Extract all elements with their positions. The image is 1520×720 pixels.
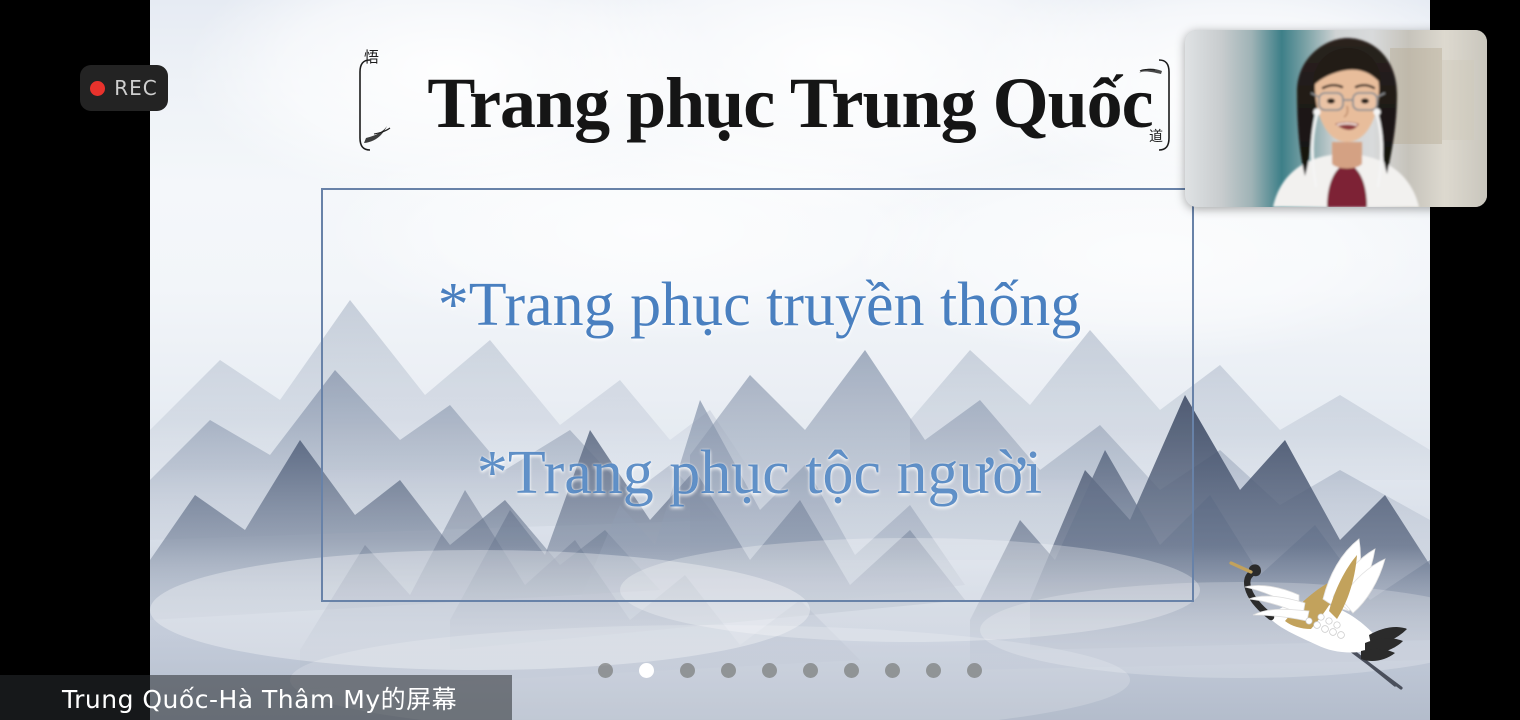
pagination-dot-7[interactable] (844, 663, 859, 678)
recording-badge: REC (80, 65, 168, 111)
pagination-dot-8[interactable] (885, 663, 900, 678)
pagination-dot-6[interactable] (803, 663, 818, 678)
recording-label: REC (114, 76, 158, 100)
pagination-dot-3[interactable] (680, 663, 695, 678)
slide-bullet-ethnic-clothing: *Trang phục tộc người (323, 442, 1196, 504)
pagination-dot-1[interactable] (598, 663, 613, 678)
pagination-dot-10[interactable] (967, 663, 982, 678)
meeting-screen-share-view: 悟 道 Trang phục Trung Quốc *Trang phục tr… (0, 0, 1520, 720)
screen-share-owner-label: Trung Quốc-Hà Thâm My的屏幕 (0, 675, 512, 720)
pagination-dot-5[interactable] (762, 663, 777, 678)
pagination-dot-4[interactable] (721, 663, 736, 678)
pagination-dot-2[interactable] (639, 663, 654, 678)
slide-bullet-traditional-clothing: *Trang phục truyền thống (323, 274, 1196, 336)
screen-share-owner-name: Trung Quốc-Hà Thâm My的屏幕 (0, 680, 457, 716)
participant-video-feed (1185, 30, 1487, 207)
slide-content-box: *Trang phục truyền thống *Trang phục tộc… (321, 188, 1194, 602)
recording-dot-icon (90, 81, 105, 96)
pagination-dot-9[interactable] (926, 663, 941, 678)
participant-video-tile[interactable] (1185, 30, 1487, 207)
flying-crane-icon (1225, 525, 1430, 710)
